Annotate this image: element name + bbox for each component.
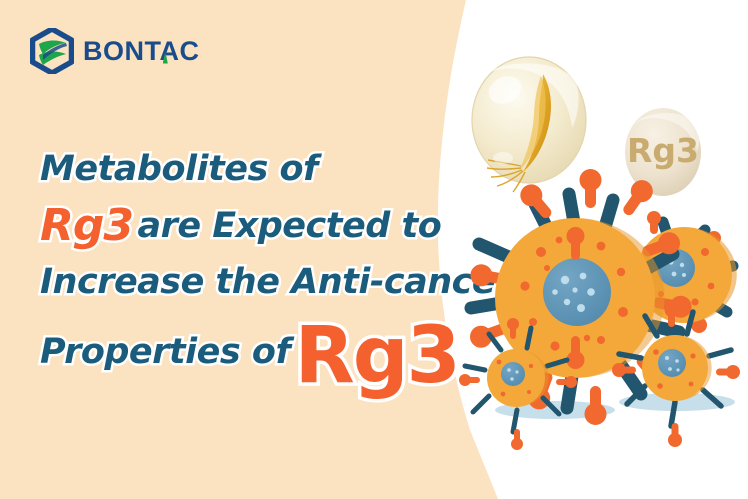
rg3-tablet-label: Rg3 <box>627 131 699 170</box>
headline: Metabolites of Rg3 are Expected to Incre… <box>40 152 490 395</box>
headline-line-3: Increase the Anti-cancer <box>40 265 490 300</box>
hexagon-leaf-logo-icon <box>30 28 74 74</box>
headline-accent-rg3-1: Rg3 <box>40 204 133 248</box>
headline-line-2: Rg3 are Expected to <box>40 204 490 248</box>
brand-name-text: BONTAC <box>83 36 199 66</box>
artwork-svg: Rg3 <box>455 40 748 460</box>
headline-accent-rg3-2: Rg3 <box>295 317 459 395</box>
headline-text-metabolites-of: Metabolites of <box>40 152 318 187</box>
headline-text-properties-of: Properties of <box>40 335 290 370</box>
headline-line-4: Properties of Rg3 <box>40 317 490 395</box>
headline-line-1: Metabolites of <box>40 152 490 187</box>
brand-wordmark: BONTAC <box>83 38 199 65</box>
headline-text-are-expected-to: are Expected to <box>137 209 441 244</box>
brand-logo[interactable]: BONTAC <box>30 28 199 74</box>
banner-root: BONTAC Metabolites of Rg3 are Expected t… <box>0 0 748 499</box>
artwork: Rg3 <box>455 40 748 460</box>
ginseng-softgel-capsule-icon <box>472 57 586 192</box>
headline-text-increase-the-anti-cancer: Increase the Anti-cancer <box>40 265 512 300</box>
